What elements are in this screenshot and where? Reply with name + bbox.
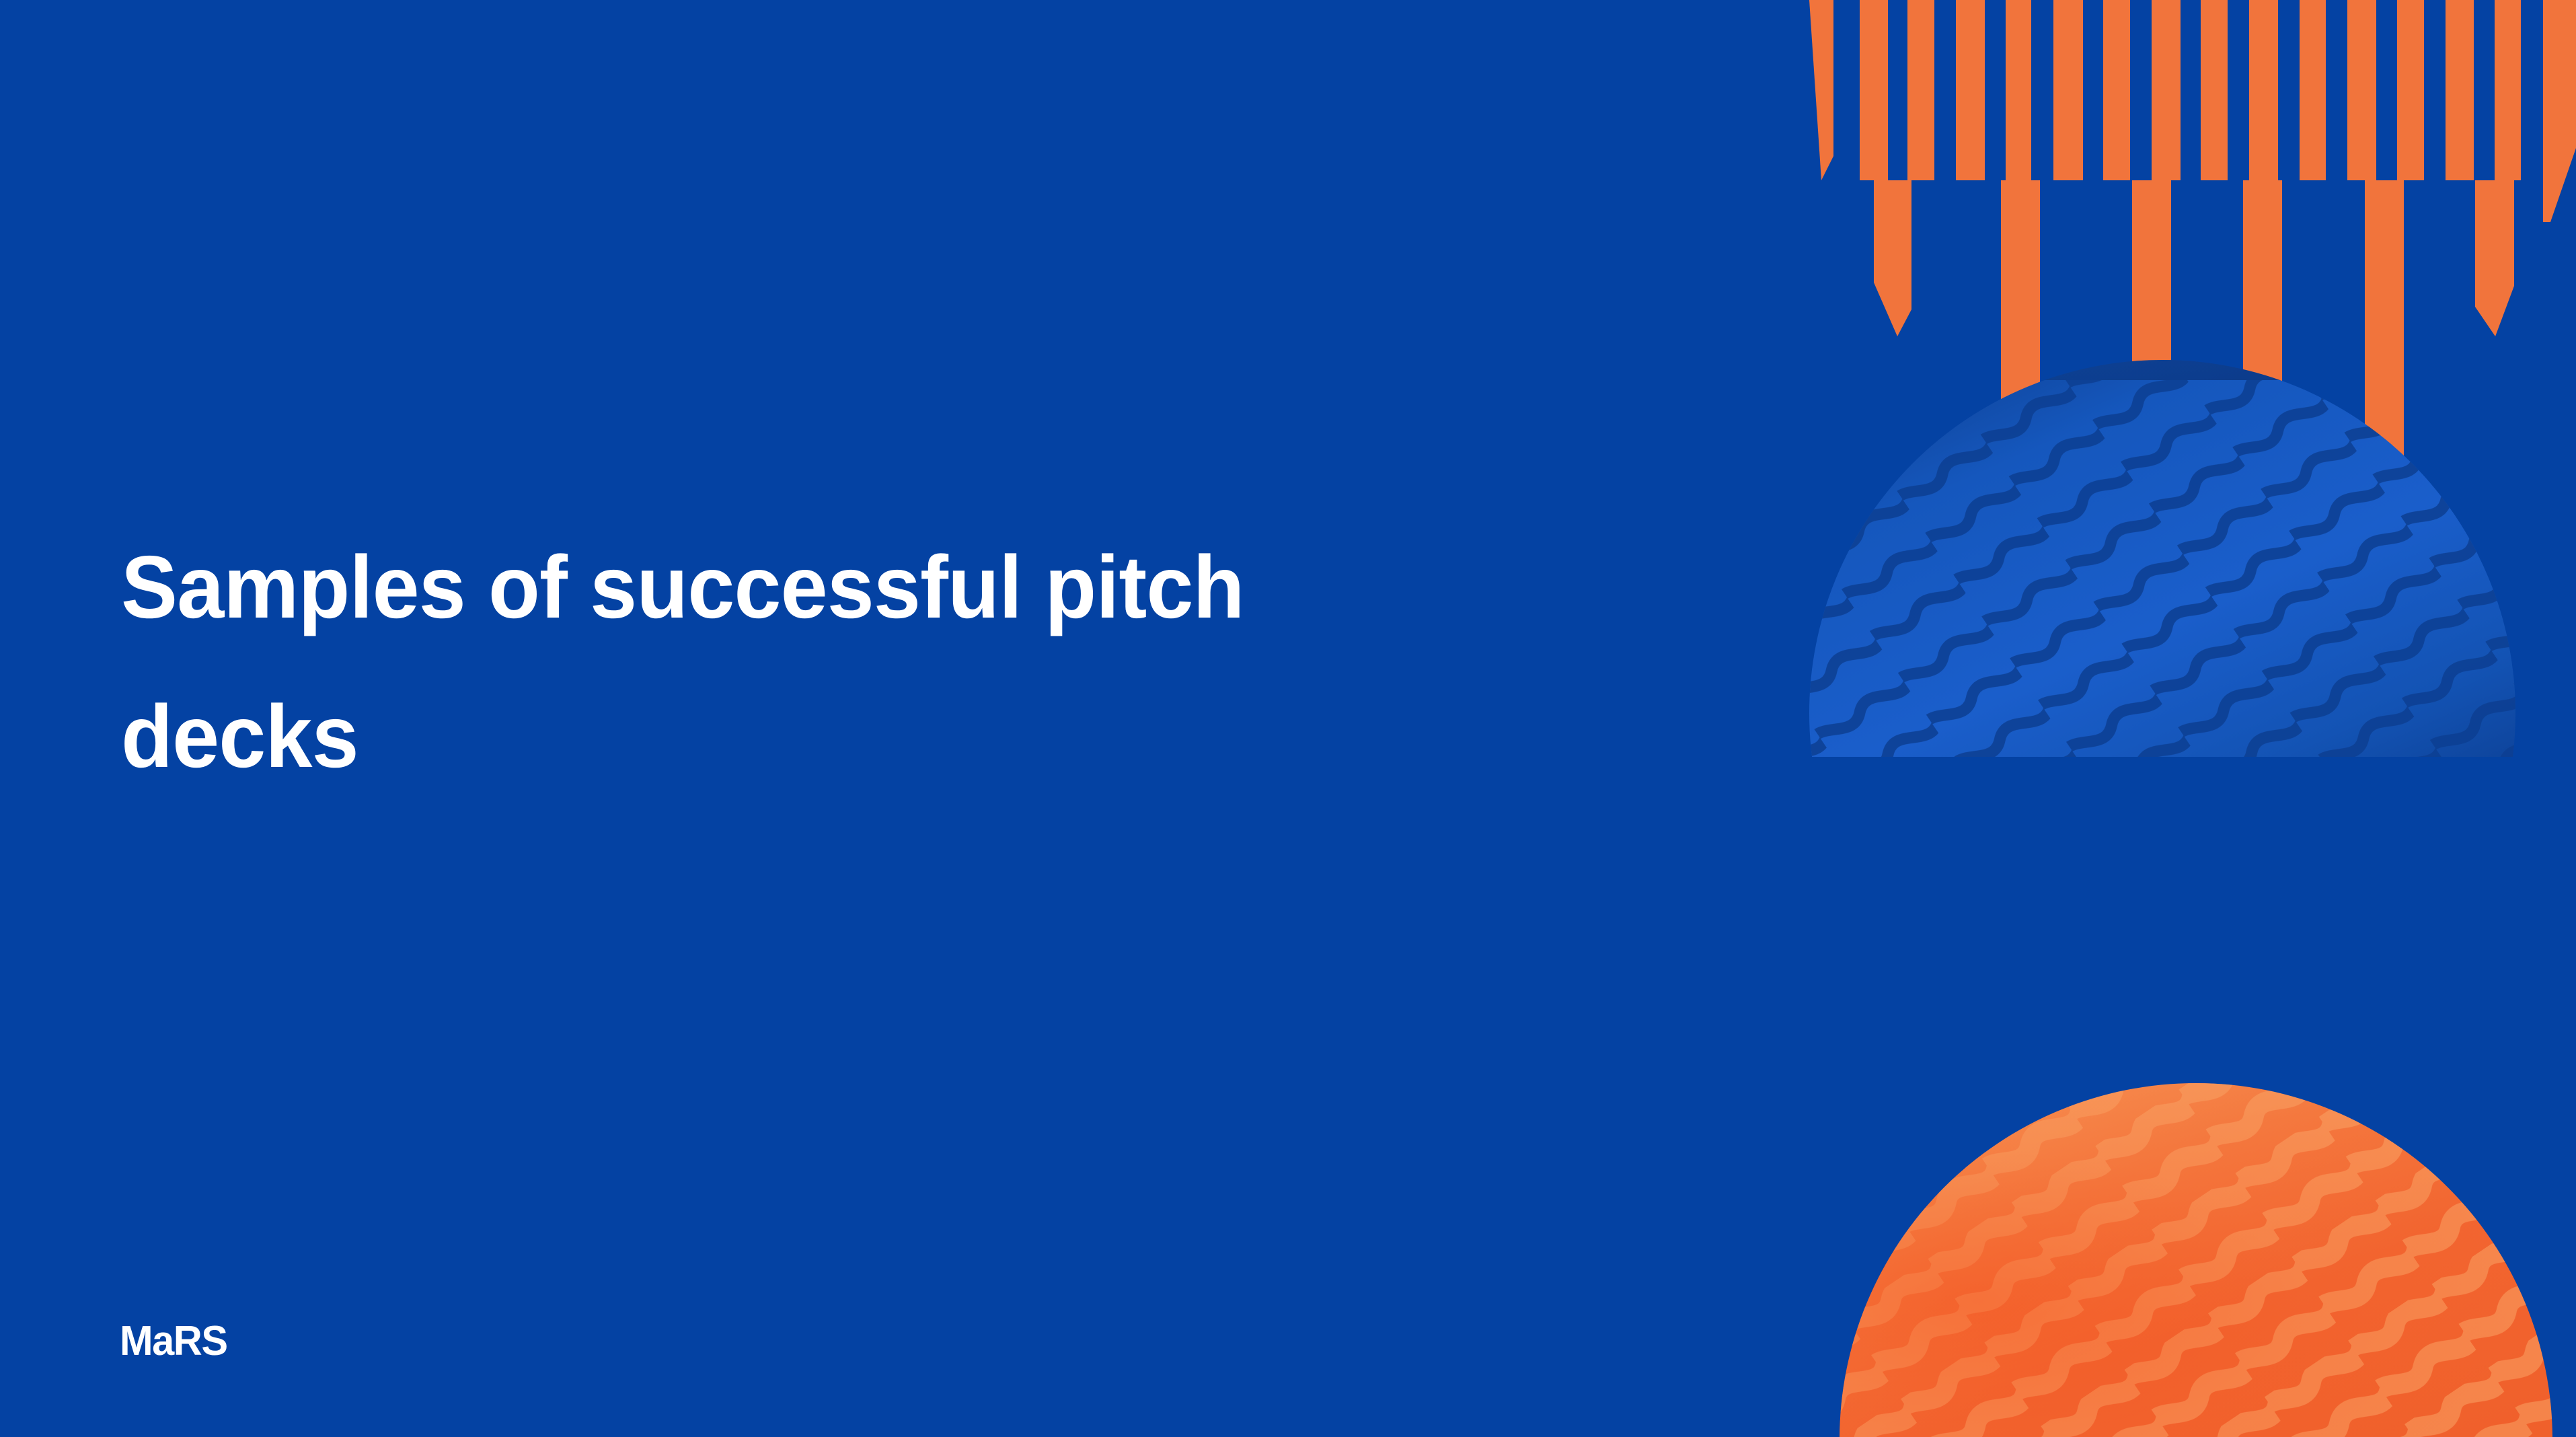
title-line-2: decks — [121, 662, 1663, 811]
orange-bars-group — [1809, 0, 2576, 673]
slide-canvas: Samples of successful pitch decks MaRS — [0, 0, 2576, 1437]
title-line-1: Samples of successful pitch — [121, 513, 1663, 662]
decorative-graphics — [1809, 0, 2576, 1437]
blue-sphere — [1809, 0, 2576, 767]
brand-logo: MaRS — [120, 1321, 231, 1362]
brand-wordmark: MaRS — [120, 1321, 227, 1362]
orange-sphere — [1809, 1076, 2576, 1437]
page-title: Samples of successful pitch decks — [121, 513, 1735, 811]
